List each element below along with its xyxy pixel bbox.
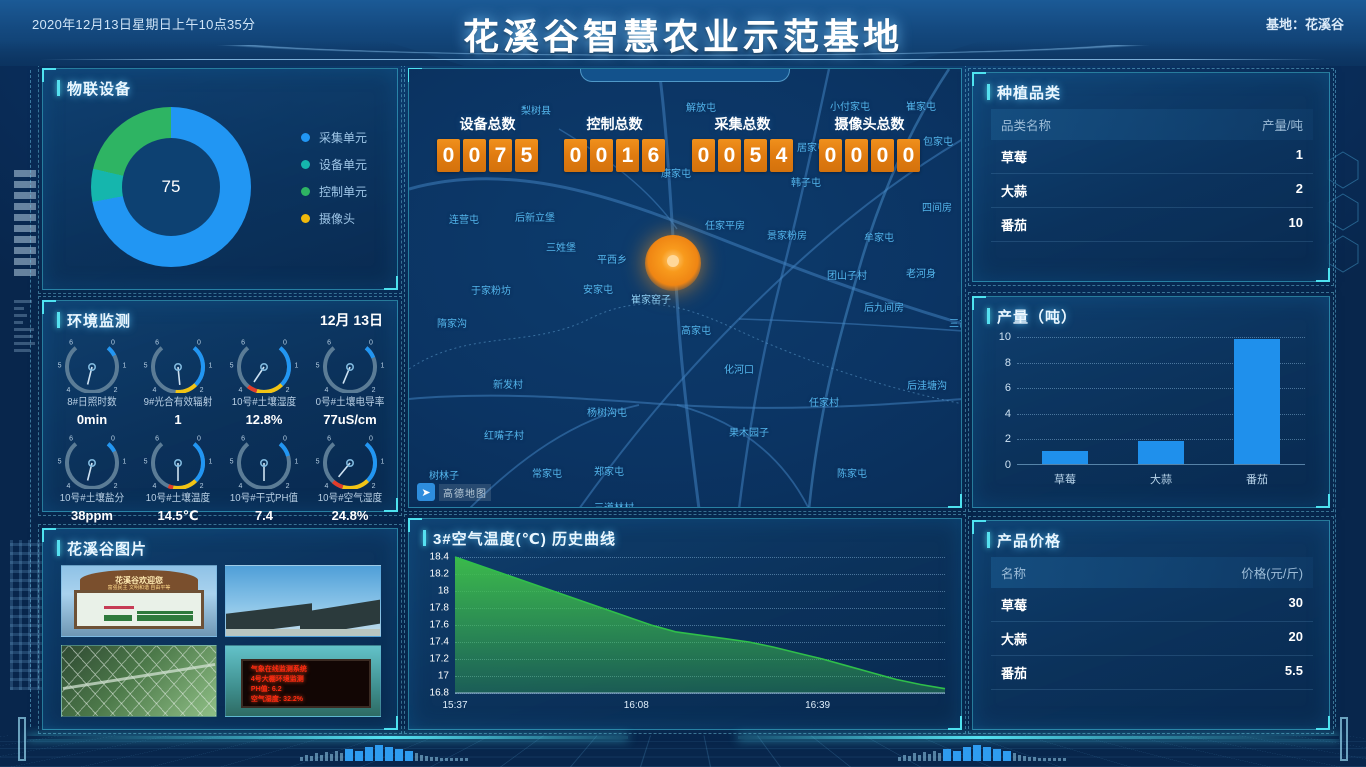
dashboard-root: 2020年12月13日星期日上午10点35分 花溪谷智慧农业示范基地 基地：花溪… (0, 0, 1366, 767)
svg-text:1: 1 (380, 459, 384, 466)
equalizer-bar (923, 752, 926, 761)
stat-digit: 0 (871, 139, 894, 172)
stat-digit: 7 (489, 139, 512, 172)
equalizer-bar (340, 753, 343, 761)
svg-text:2: 2 (286, 483, 290, 489)
stat-digit: 0 (463, 139, 486, 172)
gauge-row: 012345610号#土壤盐分38ppm012345610号#土壤温度14.5℃… (49, 427, 393, 524)
pictures-panel-title: 花溪谷图片 (57, 538, 397, 559)
gauge-0[interactable]: 01234568#日照时数0min (49, 331, 135, 427)
stat-digit: 4 (770, 139, 793, 172)
yield-bar-chart[interactable]: 0246810草莓大蒜番茄 (1017, 337, 1305, 465)
gauge-value: 1 (135, 412, 221, 427)
equalizer-bar (465, 758, 468, 761)
price-value: 30 (1289, 595, 1303, 614)
equalizer-bar (440, 758, 443, 761)
equalizer-bar (993, 749, 1001, 761)
svg-text:5: 5 (58, 363, 62, 370)
variety-panel-title: 种植品类 (987, 82, 1329, 103)
map-label-8: 四间房 (922, 199, 952, 214)
deco-bar-small (14, 342, 35, 345)
equalizer-bar (375, 745, 383, 761)
svg-text:1: 1 (122, 363, 126, 370)
map-label-10: 后新立堡 (515, 209, 555, 224)
stat-digit: 0 (564, 139, 587, 172)
svg-text:2: 2 (200, 387, 204, 393)
legend-label: 设备单元 (319, 156, 367, 173)
map-label-23: 高家屯 (681, 322, 711, 337)
y-axis-tick: 4 (1005, 408, 1011, 420)
led-line: 气象在线监测系统 (251, 664, 307, 674)
svg-text:0: 0 (369, 340, 373, 347)
svg-text:0: 0 (283, 436, 287, 443)
deco-bar (14, 192, 36, 199)
svg-text:2: 2 (200, 483, 204, 489)
equalizer-bar (315, 753, 318, 761)
deco-bar (14, 247, 36, 254)
stat-counter-2: 采集总数0054 (692, 114, 793, 172)
gauge-name: 10号#土壤温度 (138, 490, 217, 505)
table-row[interactable]: 番茄10 (991, 208, 1313, 242)
stat-digit-group: 0016 (564, 139, 665, 172)
gauge-grid: 01234568#日照时数0min01234569#光合有效辐射10123456… (49, 331, 393, 524)
equalizer-bar (928, 754, 931, 761)
equalizer-bar (983, 747, 991, 761)
stat-counter-1: 控制总数0016 (564, 114, 665, 172)
led-screen: 气象在线监测系统 4号大棚环境监测 PH值: 6.2 空气湿度: 32.2% (241, 659, 370, 708)
stat-digit: 5 (744, 139, 767, 172)
yield-chart-panel: 产量（吨） 0246810草莓大蒜番茄 (972, 296, 1330, 508)
map-logo-icon: ➤ (417, 483, 435, 501)
net-mesh (62, 646, 216, 716)
y-axis-tick: 6 (1005, 382, 1011, 394)
stat-digit: 0 (897, 139, 920, 172)
variety-value: 2 (1296, 181, 1303, 200)
map-label-27: 任家村 (809, 394, 839, 409)
svg-text:6: 6 (241, 436, 245, 443)
legend-item-3[interactable]: 摄像头 (301, 210, 367, 227)
map-label-21: 三岔河 (949, 315, 961, 330)
yield-panel-title: 产量（吨） (987, 306, 1329, 327)
sign-board-row (137, 615, 194, 618)
stat-digit-group: 0054 (692, 139, 793, 172)
iot-devices-panel: 物联设备 75 采集单元设备单元控制单元摄像头 (42, 68, 398, 290)
stat-counter-3: 摄像头总数0000 (819, 114, 920, 172)
svg-text:4: 4 (66, 483, 70, 489)
iot-donut-chart[interactable]: 75 (91, 107, 251, 267)
map-label-31: 树林子 (429, 467, 459, 482)
gauge-value: 0min (49, 412, 135, 427)
equalizer-bar (450, 758, 453, 761)
svg-text:0: 0 (197, 340, 201, 347)
gauge-value: 12.8% (221, 412, 307, 427)
right-hex-decoration (1326, 150, 1360, 320)
iot-legend: 采集单元设备单元控制单元摄像头 (301, 129, 367, 237)
price-table-body: 草莓30大蒜20番茄5.5 (991, 588, 1313, 690)
sign-board-row (137, 618, 194, 621)
left-deco-grid (10, 540, 42, 690)
deco-bar (14, 181, 36, 188)
svg-text:4: 4 (238, 483, 242, 489)
x-axis-label: 大蒜 (1150, 471, 1172, 487)
map-label-7: 韩子屯 (791, 174, 821, 189)
gauge-name: 8#日照时数 (52, 394, 131, 409)
map-label-14: 三姓堡 (546, 239, 576, 254)
svg-text:5: 5 (58, 459, 62, 466)
equalizer-bar (300, 757, 303, 761)
deco-bar (14, 170, 36, 177)
svg-text:4: 4 (324, 387, 328, 393)
svg-text:1: 1 (380, 363, 384, 370)
svg-text:1: 1 (294, 459, 298, 466)
map-label-19: 安家屯 (583, 281, 613, 296)
env-panel-date: 12月 13日 (320, 310, 383, 330)
svg-text:6: 6 (69, 340, 73, 347)
left-deco-bars (14, 170, 36, 280)
floor-swoosh-left (27, 736, 628, 739)
map-label-32: 常家屯 (532, 465, 562, 480)
equalizer-bar (335, 751, 338, 761)
map-panel[interactable]: 梨树县解放屯小付家屯崔家屯包家屯居家屯康家屯韩子屯四间房连营屯后新立堡任家平房景… (408, 68, 962, 508)
svg-text:0: 0 (111, 436, 115, 443)
legend-color-dot (301, 187, 310, 196)
equalizer-bar (455, 758, 458, 761)
picture-grid: 花溪谷欢迎您 富强民主 文明和谐 自由平等 (61, 565, 381, 717)
table-row[interactable]: 番茄5.5 (991, 656, 1313, 690)
floor-swoosh-right (738, 736, 1339, 739)
price-name: 番茄 (1001, 663, 1027, 682)
svg-text:6: 6 (327, 436, 331, 443)
gauge-name: 0号#土壤电导率 (310, 394, 389, 409)
y-axis-tick: 10 (999, 331, 1011, 343)
gauge-row: 01234568#日照时数0min01234569#光合有效辐射10123456… (49, 331, 393, 427)
sign-board-row (104, 615, 131, 618)
y-axis-tick: 8 (1005, 357, 1011, 369)
svg-text:4: 4 (66, 387, 70, 393)
map-top-notch (580, 69, 790, 82)
price-value: 20 (1289, 629, 1303, 648)
svg-text:0: 0 (111, 340, 115, 347)
floor-grid (0, 735, 1366, 767)
variety-name: 大蒜 (1001, 181, 1027, 200)
price-table: 名称 价格(元/斤) 草莓30大蒜20番茄5.5 (991, 557, 1313, 690)
equalizer-bar (963, 747, 971, 761)
legend-color-dot (301, 214, 310, 223)
equalizer-bar (460, 758, 463, 761)
svg-text:5: 5 (144, 363, 148, 370)
equalizer-bar (1063, 758, 1066, 761)
deco-bar (14, 258, 36, 265)
map-label-17: 老河身 (906, 265, 936, 280)
svg-text:4: 4 (152, 387, 156, 393)
svg-text:5: 5 (316, 363, 320, 370)
temperature-history-panel: 3#空气温度(℃) 历史曲线 16.81717.217.417.617.8181… (408, 518, 962, 730)
x-axis-label: 草莓 (1054, 471, 1076, 487)
svg-text:4: 4 (324, 483, 328, 489)
stat-digit: 1 (616, 139, 639, 172)
gauge-value: 77uS/cm (307, 412, 393, 427)
map-label-26: 后洼塘沟 (907, 377, 947, 392)
deco-bar (14, 225, 36, 232)
equalizer-bar (1023, 756, 1026, 761)
floor-bracket-right (1340, 717, 1348, 761)
equalizer-bar (913, 753, 916, 761)
gauge-name: 10号#土壤湿度 (224, 394, 303, 409)
legend-label: 采集单元 (319, 129, 367, 146)
price-value: 5.5 (1285, 663, 1303, 682)
map-label-20: 后九间房 (864, 299, 904, 314)
map-marker-label: 崔家窑子 (631, 291, 671, 306)
stat-digit: 0 (819, 139, 842, 172)
gauge-3[interactable]: 01234560号#土壤电导率77uS/cm (307, 331, 393, 427)
equalizer-bar (325, 752, 328, 761)
equalizer-bar (973, 745, 981, 761)
table-row[interactable]: 大蒜20 (991, 622, 1313, 656)
equalizer-bar (1038, 758, 1041, 761)
stat-digit-group: 0075 (437, 139, 538, 172)
gauge-4[interactable]: 012345610号#土壤盐分38ppm (49, 427, 135, 524)
price-col-value: 价格(元/斤) (1241, 563, 1303, 582)
svg-text:2: 2 (114, 483, 118, 489)
curve-panel-title: 3#空气温度(℃) 历史曲线 (423, 528, 961, 549)
svg-text:2: 2 (372, 387, 376, 393)
deco-bar-small (14, 314, 27, 317)
deco-bar (14, 214, 36, 221)
svg-text:0: 0 (369, 436, 373, 443)
equalizer-bar (1058, 758, 1061, 761)
deco-bar (14, 203, 36, 210)
sign-board-header (104, 606, 134, 609)
product-price-panel: 产品价格 名称 价格(元/斤) 草莓30大蒜20番茄5.5 (972, 520, 1330, 730)
deco-bar-small (14, 307, 24, 310)
map-label-33: 郑家屯 (594, 463, 624, 478)
map-label-3: 崔家屯 (906, 98, 936, 113)
price-name: 大蒜 (1001, 629, 1027, 648)
sign-board-row (104, 618, 131, 621)
gauge-5[interactable]: 012345610号#土壤温度14.5℃ (135, 427, 221, 524)
led-line: 空气湿度: 32.2% (251, 694, 303, 704)
map-logo-text: 高德地图 (439, 484, 491, 501)
price-table-header: 名称 价格(元/斤) (991, 557, 1313, 588)
equalizer-bar (355, 751, 363, 761)
gauge-value: 24.8% (307, 508, 393, 523)
svg-text:5: 5 (230, 459, 234, 466)
variety-value: 1 (1296, 147, 1303, 166)
stat-digit-group: 0000 (819, 139, 920, 172)
temperature-curve-svg (421, 551, 951, 721)
equalizer-bar (1028, 757, 1031, 761)
environment-monitoring-panel: 环境监测 12月 13日 01234568#日照时数0min01234569#光… (42, 300, 398, 512)
pictures-panel: 花溪谷图片 花溪谷欢迎您 富强民主 文明和谐 自由平等 (42, 528, 398, 730)
map-label-4: 包家屯 (923, 133, 953, 148)
legend-item-1[interactable]: 设备单元 (301, 156, 367, 173)
map-label-18: 于家粉坊 (471, 282, 511, 297)
map-label-30: 果木园子 (729, 424, 769, 439)
temperature-area-chart[interactable]: 16.81717.217.417.617.81818.218.415:3716:… (421, 551, 951, 721)
deco-bar-small (14, 349, 30, 352)
map-label-34: 陈家屯 (837, 465, 867, 480)
bar-1[interactable] (1138, 441, 1184, 464)
gauge-value: 7.4 (221, 508, 307, 523)
table-row[interactable]: 草莓30 (991, 588, 1313, 622)
y-axis-tick: 0 (1005, 459, 1011, 471)
price-col-name: 名称 (1001, 563, 1026, 582)
svg-text:2: 2 (114, 387, 118, 393)
equalizer-bar (1033, 757, 1036, 761)
map-label-29: 红嘴子村 (484, 427, 524, 442)
page-header: 2020年12月13日星期日上午10点35分 花溪谷智慧农业示范基地 基地：花溪… (0, 0, 1366, 66)
gauge-name: 10号#空气湿度 (310, 490, 389, 505)
equalizer-bar (385, 747, 393, 761)
greenhouse-roof-photo[interactable] (225, 565, 381, 637)
table-row[interactable]: 草莓1 (991, 140, 1313, 174)
x-axis-label: 番茄 (1246, 471, 1268, 487)
led-monitor-photo[interactable]: 气象在线监测系统 4号大棚环境监测 PH值: 6.2 空气湿度: 32.2% (225, 645, 381, 717)
bar-2[interactable] (1234, 339, 1280, 464)
equalizer-bar (1053, 758, 1056, 761)
legend-label: 控制单元 (319, 183, 367, 200)
map-label-12: 景家粉房 (767, 227, 807, 242)
gauge-name: 9#光合有效辐射 (138, 394, 217, 409)
variety-value: 10 (1289, 215, 1303, 234)
map-canvas[interactable]: 梨树县解放屯小付家屯崔家屯包家屯居家屯康家屯韩子屯四间房连营屯后新立堡任家平房景… (409, 69, 961, 507)
equalizer-bar (933, 751, 936, 761)
legend-label: 摄像头 (319, 210, 355, 227)
svg-text:2: 2 (286, 387, 290, 393)
left-deco-bars-small (14, 300, 36, 356)
map-label-6: 康家屯 (661, 165, 691, 180)
page-title: 花溪谷智慧农业示范基地 (0, 8, 1366, 60)
svg-text:0: 0 (283, 340, 287, 347)
svg-text:2: 2 (372, 483, 376, 489)
led-line: 4号大棚环境监测 (251, 674, 304, 684)
stat-digit: 0 (437, 139, 460, 172)
stat-digit: 0 (718, 139, 741, 172)
equalizer-bar (430, 757, 433, 761)
equalizer-bar (320, 755, 323, 761)
stat-digit: 0 (692, 139, 715, 172)
greenhouse-net-photo[interactable] (61, 645, 217, 717)
svg-text:4: 4 (152, 483, 156, 489)
svg-text:4: 4 (238, 387, 242, 393)
equalizer-bar (395, 749, 403, 761)
iot-panel-title: 物联设备 (57, 78, 397, 99)
map-attribution-logo: ➤ 高德地图 (417, 483, 491, 501)
equalizer-bar (345, 749, 353, 761)
header-base-label: 基地：花溪谷 (1266, 14, 1344, 33)
legend-item-2[interactable]: 控制单元 (301, 183, 367, 200)
svg-text:5: 5 (316, 459, 320, 466)
bar-0[interactable] (1042, 451, 1088, 464)
equalizer-bar (405, 751, 413, 761)
variety-col-name: 品类名称 (1001, 115, 1051, 134)
gauge-value: 14.5℃ (135, 508, 221, 524)
equalizer-bar (425, 756, 428, 761)
variety-table-header: 品类名称 产量/吨 (991, 109, 1313, 140)
gauge-value: 38ppm (49, 508, 135, 523)
y-axis-tick: 2 (1005, 433, 1011, 445)
price-panel-title: 产品价格 (987, 530, 1329, 551)
equalizer-left (300, 745, 468, 761)
donut-center-value: 75 (122, 138, 220, 236)
variety-table: 品类名称 产量/吨 草莓1大蒜2番茄10 (991, 109, 1313, 242)
stat-digit: 0 (590, 139, 613, 172)
svg-text:1: 1 (294, 363, 298, 370)
equalizer-bar (1018, 755, 1021, 761)
deco-bar-small (14, 321, 23, 324)
map-label-9: 连营屯 (449, 211, 479, 226)
deco-bar (14, 236, 36, 243)
svg-text:1: 1 (122, 459, 126, 466)
map-label-25: 新发村 (493, 376, 523, 391)
equalizer-bar (365, 747, 373, 761)
equalizer-bar (420, 755, 423, 761)
svg-text:6: 6 (155, 436, 159, 443)
svg-text:1: 1 (208, 363, 212, 370)
gauge-7[interactable]: 012345610号#空气湿度24.8% (307, 427, 393, 524)
equalizer-bar (918, 755, 921, 761)
variety-col-value: 产量/吨 (1262, 115, 1303, 134)
equalizer-bar (953, 751, 961, 761)
planting-variety-panel: 种植品类 品类名称 产量/吨 草莓1大蒜2番茄10 (972, 72, 1330, 282)
gauge-name: 10号#干式PH值 (224, 490, 303, 505)
led-line: PH值: 6.2 (251, 684, 282, 694)
equalizer-bar (415, 753, 418, 761)
equalizer-bar (310, 756, 313, 761)
table-row[interactable]: 大蒜2 (991, 174, 1313, 208)
map-label-2: 小付家屯 (830, 98, 870, 113)
stat-digit: 6 (642, 139, 665, 172)
equalizer-bar (330, 754, 333, 761)
svg-text:6: 6 (327, 340, 331, 347)
svg-text:0: 0 (197, 436, 201, 443)
map-label-24: 化河口 (724, 361, 754, 376)
welcome-sign-photo[interactable]: 花溪谷欢迎您 富强民主 文明和谐 自由平等 (61, 565, 217, 637)
floor-bracket-left (18, 717, 26, 761)
svg-text:6: 6 (241, 340, 245, 347)
svg-text:5: 5 (144, 459, 148, 466)
svg-text:6: 6 (155, 340, 159, 347)
equalizer-bar (445, 758, 448, 761)
equalizer-bar (1048, 758, 1051, 761)
equalizer-bar (938, 753, 941, 761)
map-label-1: 解放屯 (686, 99, 716, 114)
bottom-floor-decoration (0, 711, 1366, 767)
equalizer-bar (305, 755, 308, 761)
legend-color-dot (301, 133, 310, 142)
gauge-2[interactable]: 012345610号#土壤湿度12.8% (221, 331, 307, 427)
sign-board (74, 590, 203, 629)
map-marker-highlight[interactable] (645, 235, 701, 291)
sign-board-row (137, 611, 194, 614)
map-label-28: 杨树沟屯 (587, 404, 627, 419)
stat-label: 摄像头总数 (819, 114, 920, 134)
equalizer-bar (908, 756, 911, 761)
map-label-16: 团山子村 (827, 267, 867, 282)
gauge-6[interactable]: 012345610号#干式PH值7.4 (221, 427, 307, 524)
price-name: 草莓 (1001, 595, 1027, 614)
header-divider-line (40, 59, 1326, 60)
gauge-1[interactable]: 01234569#光合有效辐射1 (135, 331, 221, 427)
deco-bar (14, 269, 36, 276)
legend-color-dot (301, 160, 310, 169)
legend-item-0[interactable]: 采集单元 (301, 129, 367, 146)
stat-digit: 0 (845, 139, 868, 172)
equalizer-bar (1013, 753, 1016, 761)
svg-text:1: 1 (208, 459, 212, 466)
map-label-22: 隋家沟 (437, 315, 467, 330)
map-label-13: 牟家屯 (864, 229, 894, 244)
